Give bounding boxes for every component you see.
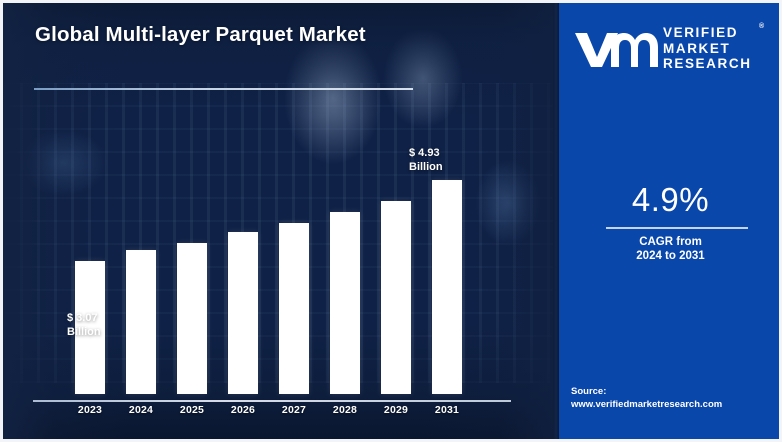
x-axis-label-2031: 2031 — [422, 404, 472, 416]
vmr-monogram-icon — [573, 27, 659, 74]
x-axis-label-2028: 2028 — [320, 404, 370, 416]
source-url: www.verifiedmarketresearch.com — [571, 399, 722, 410]
x-axis-label-2026: 2026 — [218, 404, 268, 416]
bar-chart-plot-area: 20232024202520262027202820292031 — [3, 3, 556, 439]
first-bar-value-label: $ 3.07 Billion — [67, 311, 101, 339]
first-bar-value-amount: $ 3.07 — [67, 312, 98, 324]
x-axis-label-2025: 2025 — [167, 404, 217, 416]
brand-logo: VERIFIED MARKET RESEARCH ® — [573, 21, 773, 75]
bar-2028 — [330, 212, 360, 394]
x-axis-label-2024: 2024 — [116, 404, 166, 416]
x-axis-label-2027: 2027 — [269, 404, 319, 416]
cagr-divider-rule — [606, 227, 748, 229]
source-note: Source: www.verifiedmarketresearch.com — [571, 386, 722, 411]
chart-panel: Global Multi-layer Parquet Market 202320… — [3, 3, 556, 439]
x-axis-label-2029: 2029 — [371, 404, 421, 416]
bar-2024 — [126, 250, 156, 394]
bar-2031 — [432, 180, 462, 394]
cagr-value: 4.9% — [559, 181, 782, 219]
bar-2027 — [279, 223, 309, 394]
bar-2026 — [228, 232, 258, 394]
cagr-caption: CAGR from 2024 to 2031 — [559, 235, 782, 263]
first-bar-value-unit: Billion — [67, 326, 101, 338]
last-bar-value-unit: Billion — [409, 161, 443, 173]
cagr-caption-line1: CAGR from — [639, 236, 702, 248]
brand-logo-text: VERIFIED MARKET RESEARCH — [663, 25, 752, 72]
cagr-caption-line2: 2024 to 2031 — [636, 250, 704, 262]
brand-logo-line1: VERIFIED — [663, 25, 738, 40]
registered-trademark-icon: ® — [759, 23, 764, 30]
last-bar-value-amount: $ 4.93 — [409, 147, 440, 159]
infographic-card: Global Multi-layer Parquet Market 202320… — [0, 0, 782, 442]
brand-logo-line3: RESEARCH — [663, 56, 752, 71]
side-panel: VERIFIED MARKET RESEARCH ® 4.9% CAGR fro… — [559, 3, 782, 439]
x-axis-label-2023: 2023 — [65, 404, 115, 416]
brand-logo-line2: MARKET — [663, 41, 730, 56]
bar-2029 — [381, 201, 411, 394]
source-label: Source: — [571, 386, 606, 397]
bar-2025 — [177, 243, 207, 394]
x-axis-line — [33, 400, 511, 402]
last-bar-value-label: $ 4.93 Billion — [409, 146, 443, 174]
